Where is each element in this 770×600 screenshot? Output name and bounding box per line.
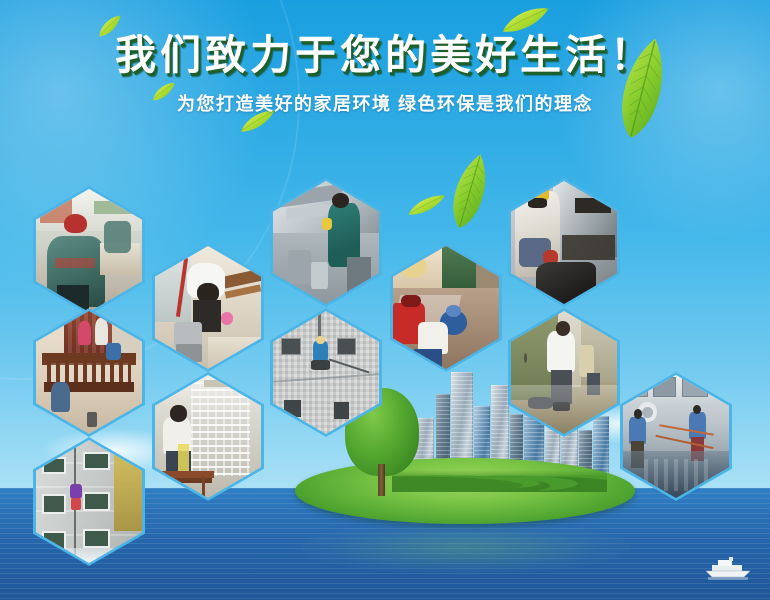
hex-railing-polish[interactable] — [33, 308, 145, 437]
promo-banner: 我们致力于您的美好生活！ 为您打造美好的家居环境 绿色环保是我们的理念 — [0, 0, 770, 600]
hex-glass-roof-wash[interactable] — [620, 372, 732, 501]
hex-exterior-drop[interactable] — [33, 437, 145, 566]
hex-wall-demolition[interactable] — [33, 186, 145, 315]
hex-kitchen-hood-clean[interactable] — [508, 178, 620, 307]
hex-facade-rope-access[interactable] — [270, 308, 382, 437]
headline: 我们致力于您的美好生活！ — [0, 34, 770, 77]
hex-carpet-extraction[interactable] — [390, 243, 502, 372]
hex-duct-cleaning[interactable] — [270, 178, 382, 307]
hex-chandelier-clean[interactable] — [152, 372, 264, 501]
hex-stair-mopping[interactable] — [152, 243, 264, 372]
subheadline: 为您打造美好的家居环境 绿色环保是我们的理念 — [0, 90, 770, 116]
hex-floor-burnishing[interactable] — [508, 308, 620, 437]
banner-header: 我们致力于您的美好生活！ 为您打造美好的家居环境 绿色环保是我们的理念 — [0, 0, 770, 116]
